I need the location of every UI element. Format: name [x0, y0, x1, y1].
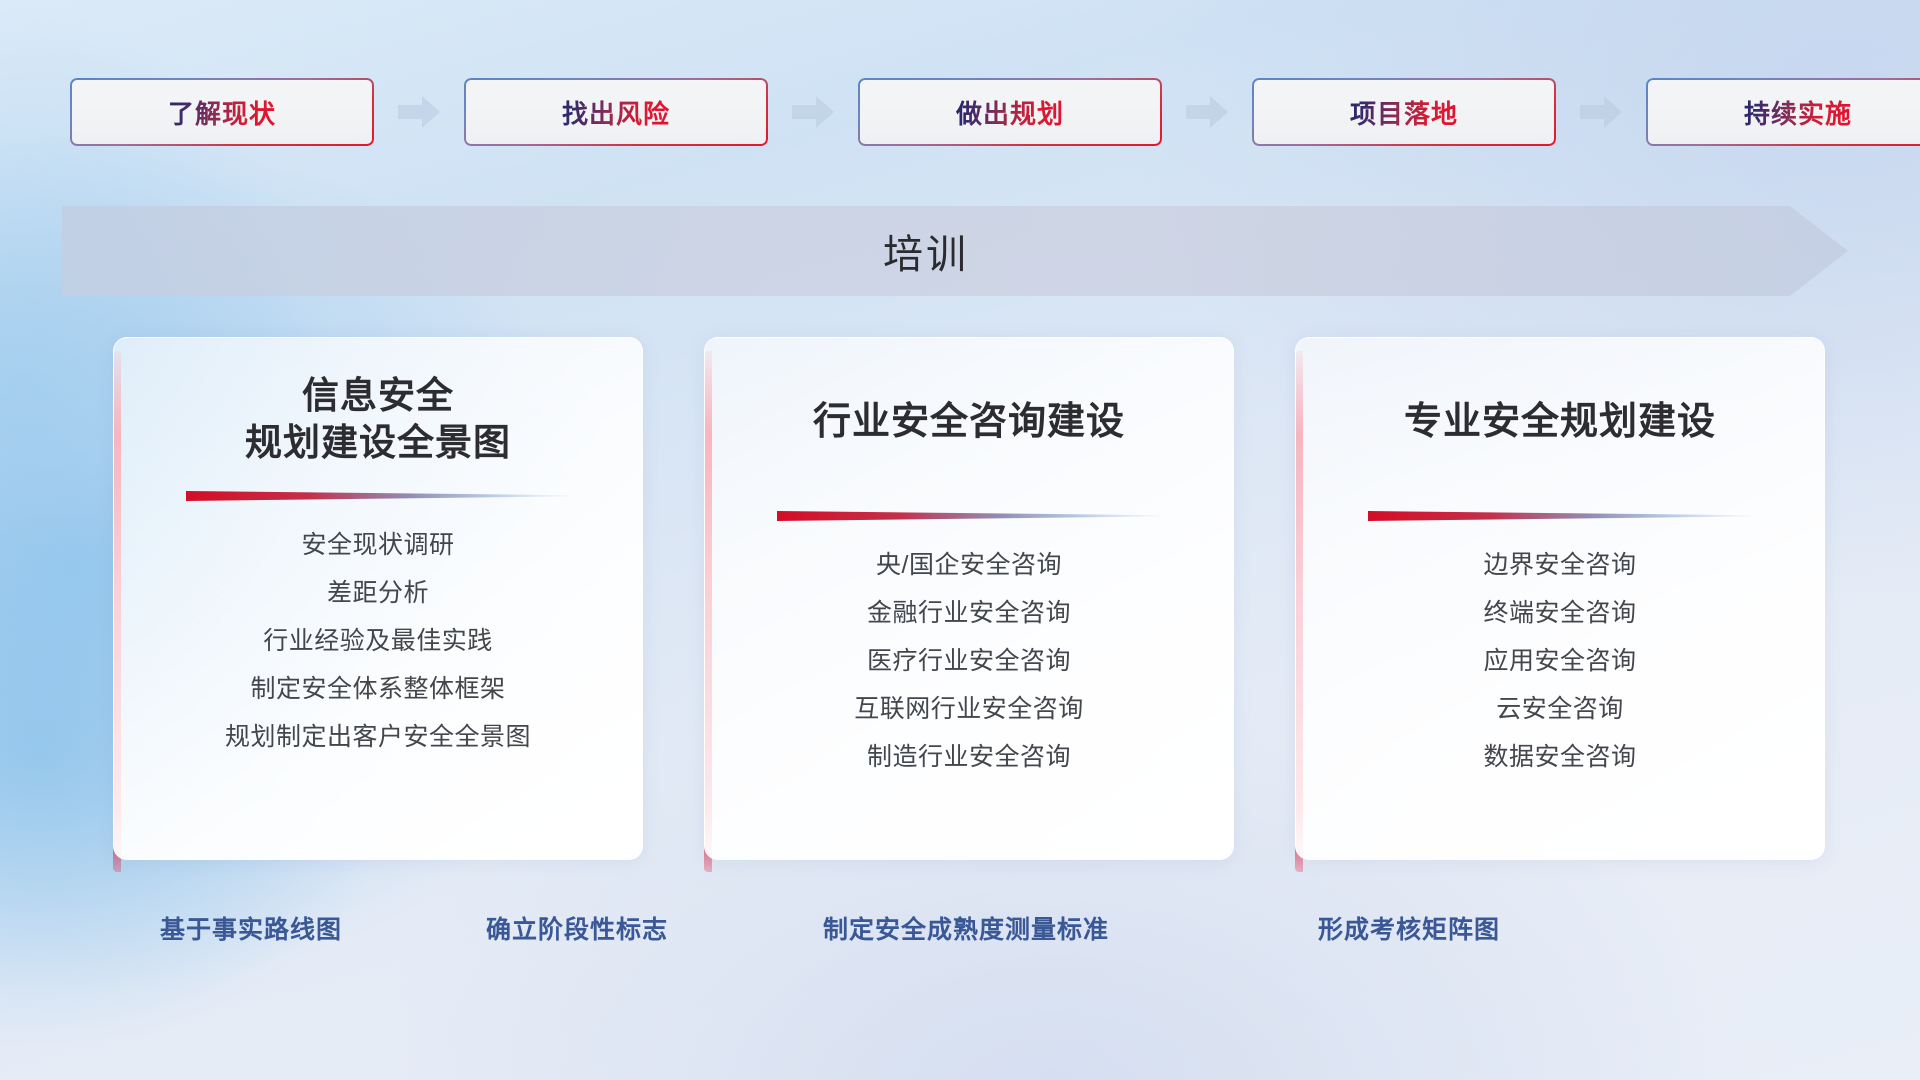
list-item: 央/国企安全咨询: [876, 545, 1062, 585]
card-title-3: 专业安全规划建设: [1322, 372, 1798, 447]
step-box-2[interactable]: 找出风险: [464, 78, 768, 146]
arrow-right-block-icon: [792, 95, 834, 129]
arrow-right-block-icon: [398, 95, 440, 129]
card-divider-1: [186, 489, 570, 503]
process-step-row: 了解现状 找出风险 做出规划 项目落地: [70, 78, 1850, 146]
arrow-right-block-icon: [1186, 95, 1228, 129]
card-row: 信息安全 规划建设全景图: [113, 337, 1825, 872]
list-item: 应用安全咨询: [1483, 641, 1636, 681]
banner-label: 培训: [62, 206, 1790, 296]
arrow-right-block-icon: [1580, 95, 1622, 129]
card-title-2: 行业安全咨询建设: [731, 372, 1207, 447]
caption-4: 形成考核矩阵图: [1318, 910, 1500, 946]
step-box-4[interactable]: 项目落地: [1252, 78, 1556, 146]
card-title-line: 行业安全咨询建设: [731, 398, 1207, 447]
caption-1: 基于事实路线图: [160, 910, 342, 946]
list-item: 数据安全咨询: [1483, 737, 1636, 777]
card-wrap-1: 信息安全 规划建设全景图: [113, 337, 643, 872]
card-title-line: 专业安全规划建设: [1322, 398, 1798, 447]
step-label-1: 了解现状: [168, 94, 276, 131]
card-2[interactable]: 行业安全咨询建设: [704, 337, 1234, 860]
card-list-3: 边界安全咨询 终端安全咨询 应用安全咨询 云安全咨询 数据安全咨询: [1322, 545, 1798, 777]
list-item: 终端安全咨询: [1483, 593, 1636, 633]
card-list-1: 安全现状调研 差距分析 行业经验及最佳实践 制定安全体系整体框架 规划制定出客户…: [140, 525, 616, 757]
list-item: 边界安全咨询: [1483, 545, 1636, 585]
card-wrap-3: 专业安全规划建设: [1295, 337, 1825, 872]
list-item: 医疗行业安全咨询: [867, 641, 1071, 681]
step-box-5[interactable]: 持续实施: [1646, 78, 1920, 146]
list-item: 差距分析: [327, 573, 429, 613]
list-item: 制造行业安全咨询: [867, 737, 1071, 777]
card-title-1: 信息安全 规划建设全景图: [140, 372, 616, 467]
card-wrap-2: 行业安全咨询建设: [704, 337, 1234, 872]
list-item: 安全现状调研: [301, 525, 454, 565]
caption-row: 基于事实路线图 确立阶段性标志 制定安全成熟度测量标准 形成考核矩阵图: [0, 910, 1920, 960]
caption-3: 制定安全成熟度测量标准: [823, 910, 1109, 946]
step-label-3: 做出规划: [956, 94, 1064, 131]
caption-2: 确立阶段性标志: [486, 910, 668, 946]
step-label-4: 项目落地: [1350, 94, 1458, 131]
card-1[interactable]: 信息安全 规划建设全景图: [113, 337, 643, 860]
card-3[interactable]: 专业安全规划建设: [1295, 337, 1825, 860]
list-item: 制定安全体系整体框架: [250, 669, 505, 709]
step-label-2: 找出风险: [562, 94, 670, 131]
slide-canvas: 了解现状 找出风险 做出规划 项目落地: [0, 0, 1920, 1080]
list-item: 金融行业安全咨询: [867, 593, 1071, 633]
list-item: 规划制定出客户安全全景图: [225, 717, 531, 757]
card-divider-2: [777, 509, 1161, 523]
card-divider-3: [1368, 509, 1752, 523]
training-banner: 培训: [62, 206, 1848, 296]
step-label-5: 持续实施: [1744, 94, 1852, 131]
card-title-line: 信息安全: [140, 372, 616, 419]
card-title-line: 规划建设全景图: [140, 419, 616, 466]
step-box-1[interactable]: 了解现状: [70, 78, 374, 146]
list-item: 云安全咨询: [1496, 689, 1624, 729]
step-box-3[interactable]: 做出规划: [858, 78, 1162, 146]
list-item: 行业经验及最佳实践: [263, 621, 493, 661]
list-item: 互联网行业安全咨询: [854, 689, 1084, 729]
card-list-2: 央/国企安全咨询 金融行业安全咨询 医疗行业安全咨询 互联网行业安全咨询 制造行…: [731, 545, 1207, 777]
